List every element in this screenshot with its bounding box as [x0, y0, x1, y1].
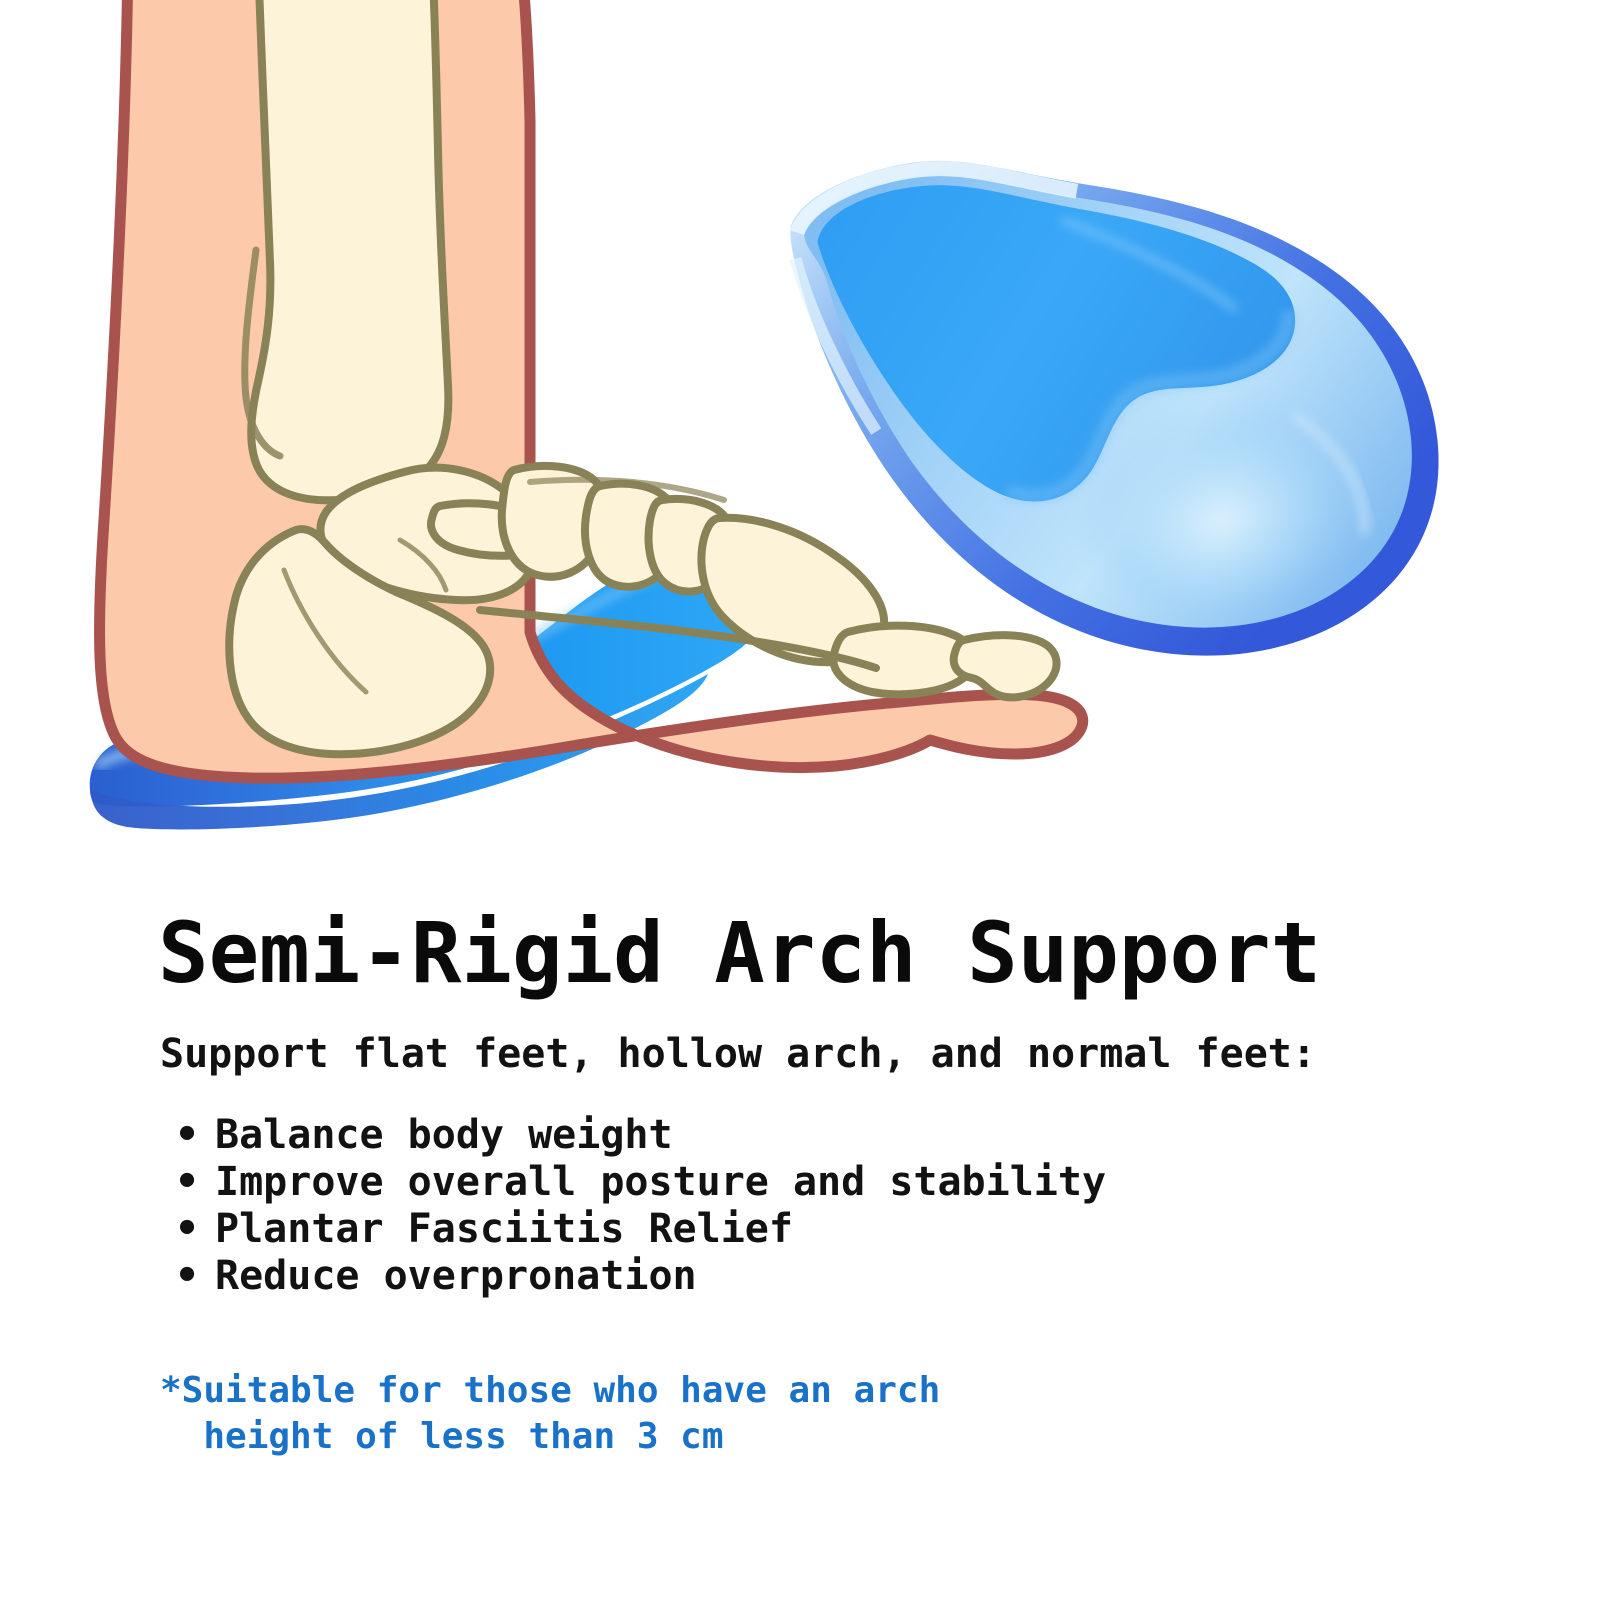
bone-tibia [251, 0, 448, 500]
benefits-list: • Balance body weight • Improve overall … [165, 1112, 1106, 1300]
list-item-label: Improve overall posture and stability [215, 1159, 1106, 1205]
bullet-icon: • [175, 1206, 199, 1253]
list-item-label: Balance body weight [215, 1112, 673, 1158]
product-infographic: Semi-Rigid Arch Support Support flat fee… [0, 0, 1600, 1600]
text-content-area: Semi-Rigid Arch Support Support flat fee… [0, 880, 1600, 1600]
page-title: Semi-Rigid Arch Support [158, 908, 1321, 998]
list-item-label: Plantar Fasciitis Relief [215, 1206, 793, 1252]
list-item: • Improve overall posture and stability [165, 1159, 1106, 1206]
bullet-icon: • [175, 1159, 199, 1206]
subtitle: Support flat feet, hollow arch, and norm… [160, 1030, 1316, 1078]
illustration-area [0, 0, 1600, 880]
bullet-icon: • [175, 1253, 199, 1300]
list-item-label: Reduce overpronation [215, 1253, 697, 1299]
bone-phalanx-distal [954, 635, 1057, 697]
footnote: *Suitable for those who have an arch hei… [160, 1368, 940, 1460]
list-item: • Balance body weight [165, 1112, 1106, 1159]
list-item: • Plantar Fasciitis Relief [165, 1206, 1106, 1253]
bullet-icon: • [175, 1112, 199, 1159]
list-item: • Reduce overpronation [165, 1253, 1106, 1300]
